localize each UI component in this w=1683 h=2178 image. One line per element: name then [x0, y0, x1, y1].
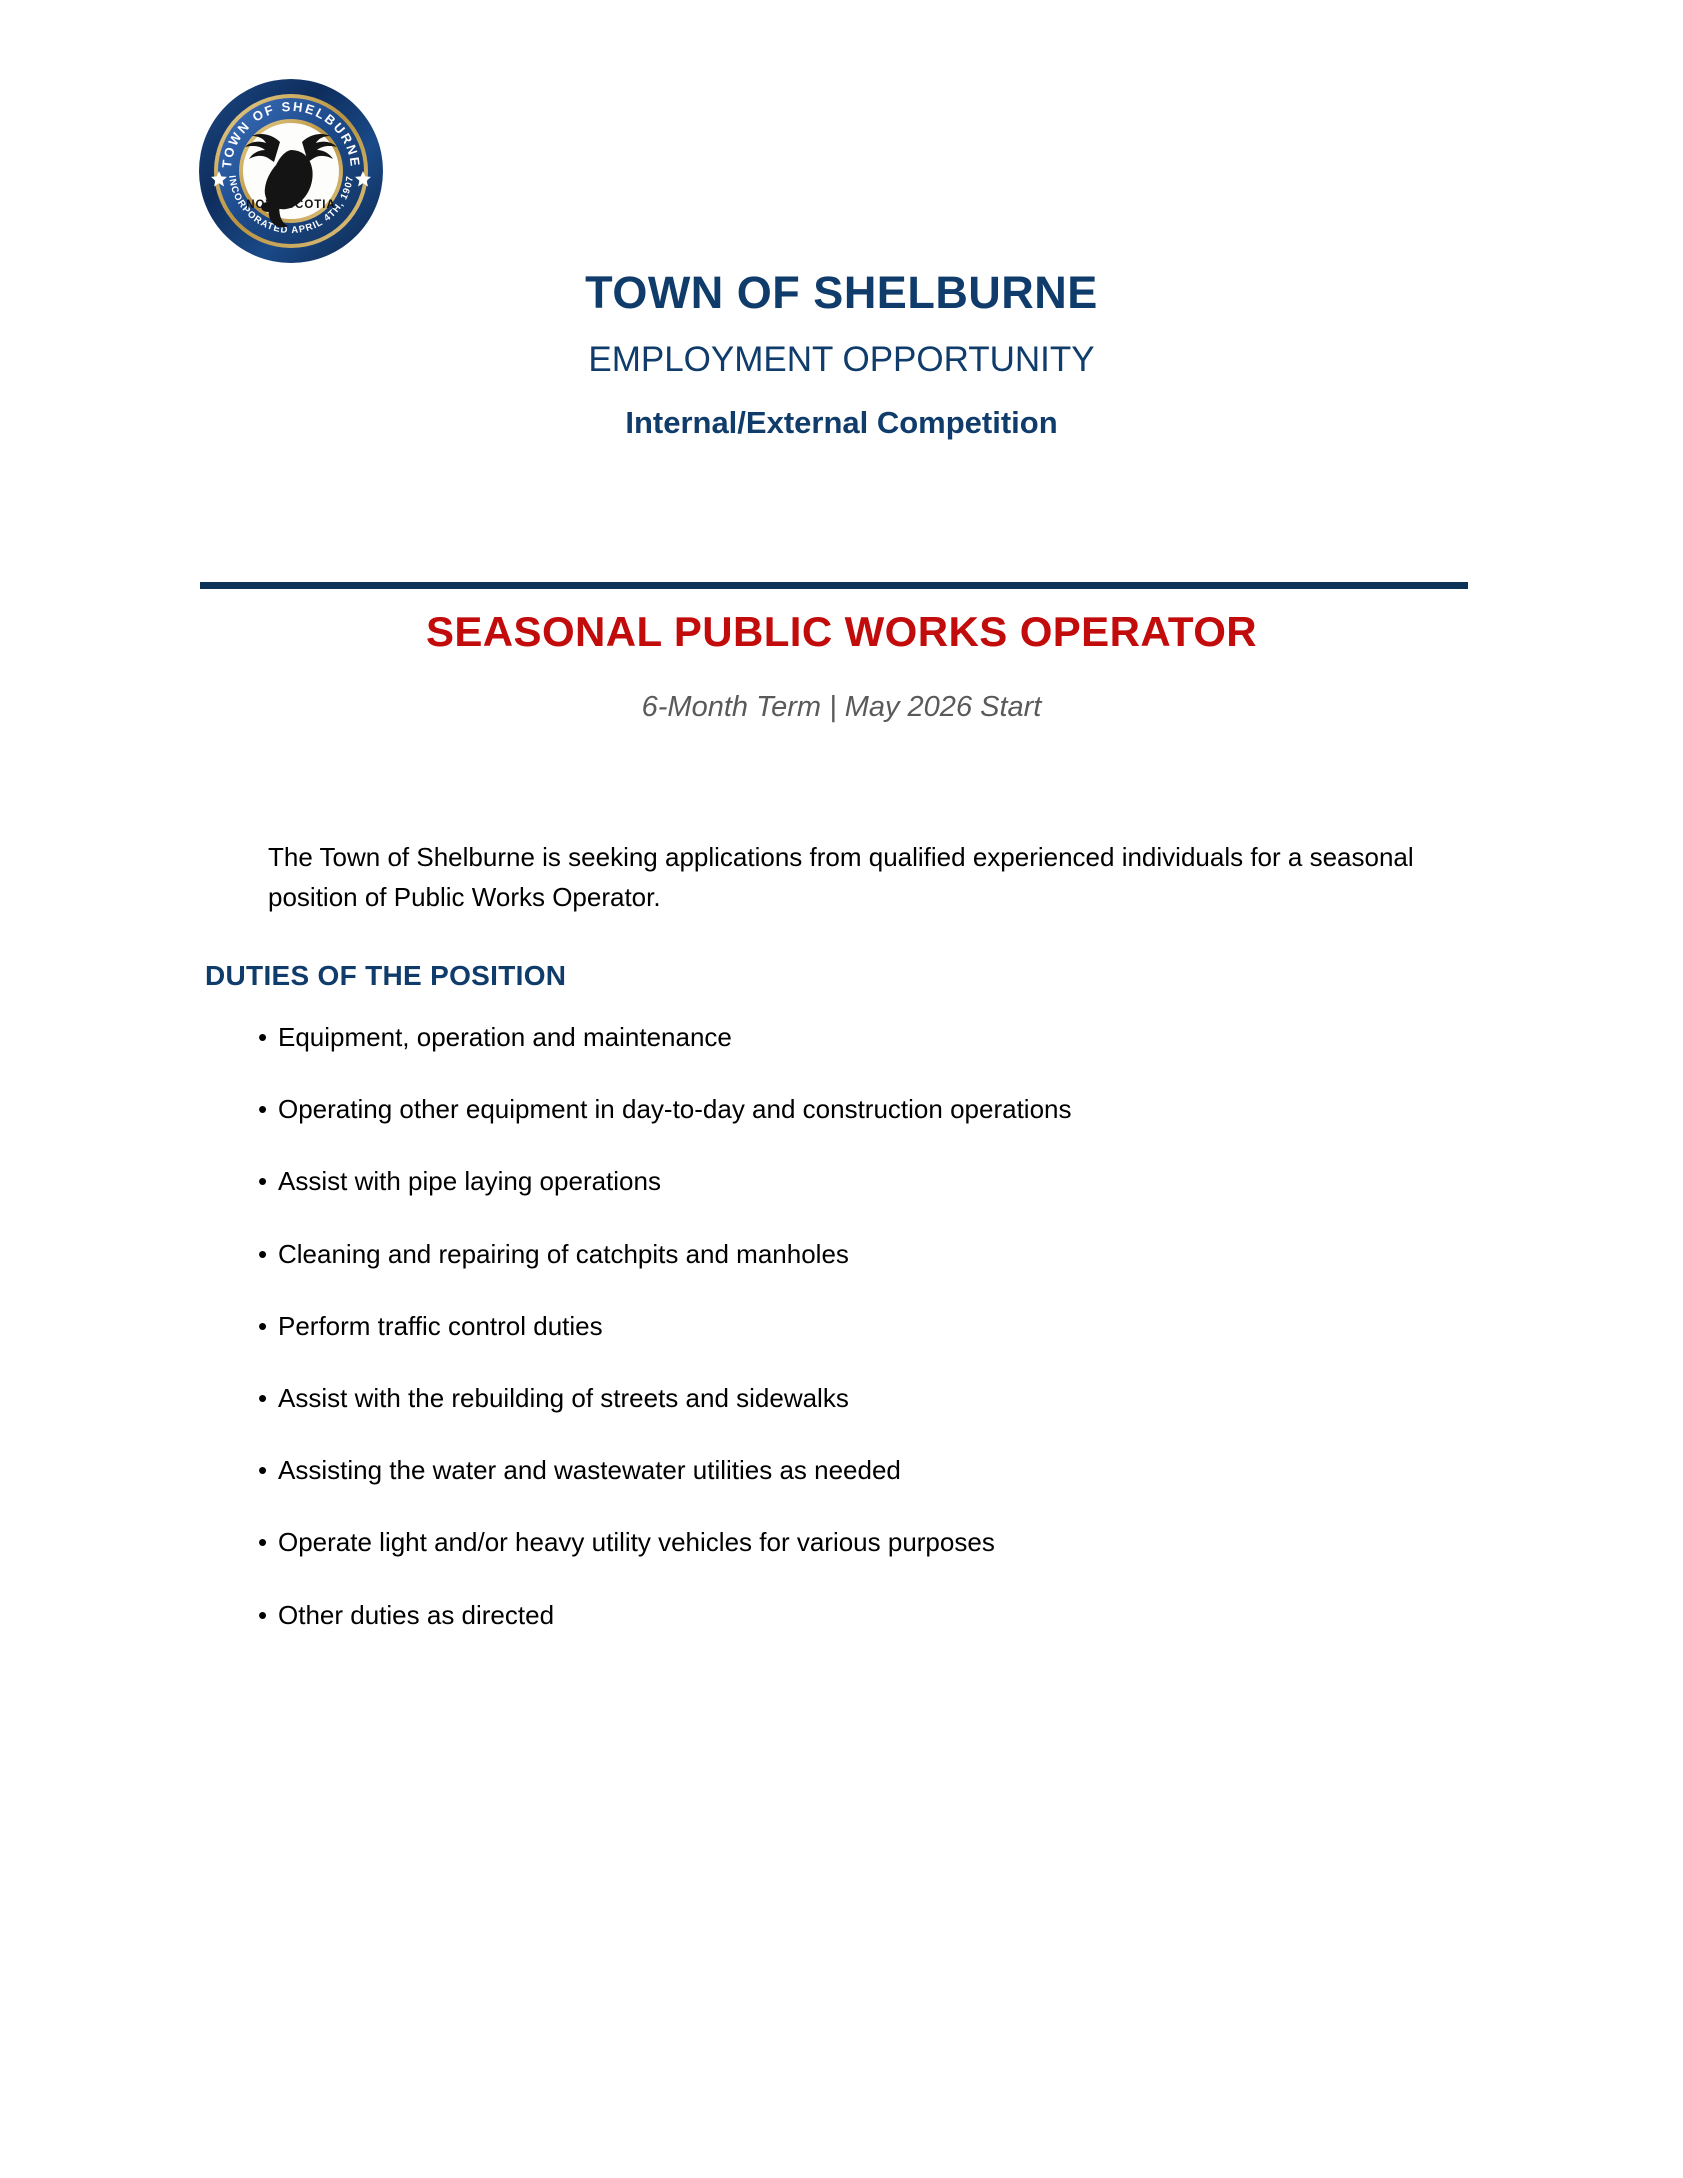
duty-text: Operating other equipment in day-to-day …: [278, 1094, 1071, 1124]
bullet-icon: •: [258, 1383, 278, 1414]
job-title-block: SEASONAL PUBLIC WORKS OPERATOR 6-Month T…: [0, 608, 1683, 725]
list-item: •Cleaning and repairing of catchpits and…: [258, 1239, 1458, 1270]
list-item: •Perform traffic control duties: [258, 1311, 1458, 1342]
duty-text: Operate light and/or heavy utility vehic…: [278, 1527, 995, 1557]
town-seal-logo: TOWN OF SHELBURNE INCORPORATED APRIL 4TH…: [198, 78, 384, 264]
duty-text: Other duties as directed: [278, 1600, 554, 1630]
duties-list: •Equipment, operation and maintenance •O…: [258, 1022, 1458, 1672]
svg-text:NOVA SCOTIA: NOVA SCOTIA: [246, 199, 336, 211]
list-item: •Operating other equipment in day-to-day…: [258, 1094, 1458, 1125]
employment-opportunity-line: EMPLOYMENT OPPORTUNITY: [0, 340, 1683, 380]
duty-text: Perform traffic control duties: [278, 1311, 603, 1341]
list-item: •Operate light and/or heavy utility vehi…: [258, 1527, 1458, 1558]
duty-text: Assist with pipe laying operations: [278, 1166, 661, 1196]
duty-text: Assist with the rebuilding of streets an…: [278, 1383, 849, 1413]
bullet-icon: •: [258, 1094, 278, 1125]
job-term-subtitle: 6-Month Term | May 2026 Start: [0, 691, 1683, 724]
duty-text: Cleaning and repairing of catchpits and …: [278, 1239, 849, 1269]
duty-text: Assisting the water and wastewater utili…: [278, 1455, 901, 1485]
document-page: TOWN OF SHELBURNE INCORPORATED APRIL 4TH…: [0, 0, 1683, 2178]
list-item: •Equipment, operation and maintenance: [258, 1022, 1458, 1053]
document-header: TOWN OF SHELBURNE EMPLOYMENT OPPORTUNITY…: [0, 268, 1683, 440]
list-item: •Assist with pipe laying operations: [258, 1166, 1458, 1197]
job-position-title: SEASONAL PUBLIC WORKS OPERATOR: [0, 608, 1683, 656]
bullet-icon: •: [258, 1527, 278, 1558]
list-item: •Other duties as directed: [258, 1600, 1458, 1631]
intro-paragraph: The Town of Shelburne is seeking applica…: [268, 838, 1458, 917]
header-divider-rule: [200, 582, 1468, 589]
duty-text: Equipment, operation and maintenance: [278, 1022, 732, 1052]
list-item: •Assist with the rebuilding of streets a…: [258, 1383, 1458, 1414]
organization-title: TOWN OF SHELBURNE: [0, 268, 1683, 318]
town-seal-icon: TOWN OF SHELBURNE INCORPORATED APRIL 4TH…: [198, 78, 384, 264]
bullet-icon: •: [258, 1600, 278, 1631]
bullet-icon: •: [258, 1022, 278, 1053]
bullet-icon: •: [258, 1239, 278, 1270]
bullet-icon: •: [258, 1455, 278, 1486]
duties-section-heading: DUTIES OF THE POSITION: [205, 960, 566, 992]
list-item: •Assisting the water and wastewater util…: [258, 1455, 1458, 1486]
bullet-icon: •: [258, 1166, 278, 1197]
competition-type-line: Internal/External Competition: [0, 405, 1683, 441]
bullet-icon: •: [258, 1311, 278, 1342]
